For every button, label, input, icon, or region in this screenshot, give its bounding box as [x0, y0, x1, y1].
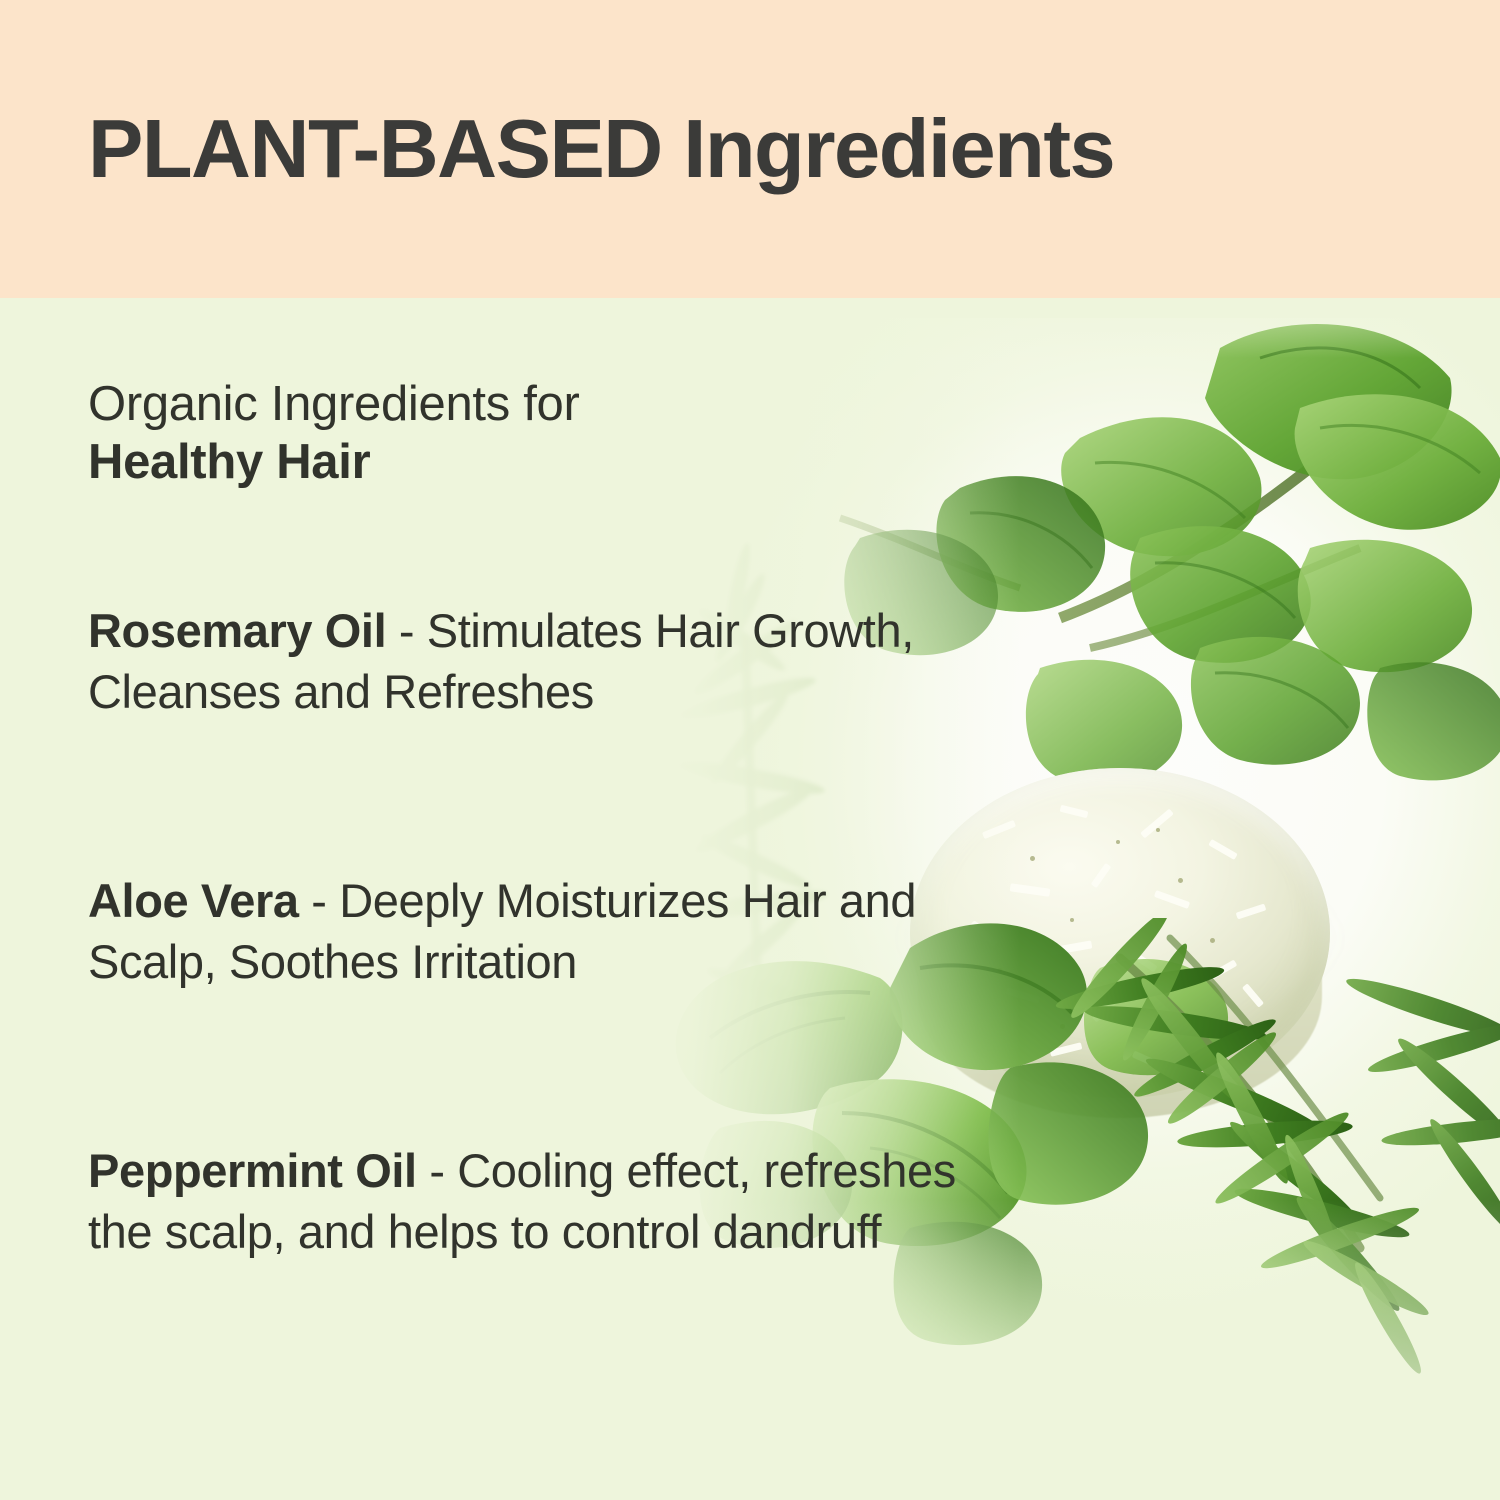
- intro-line-1: Organic Ingredients for: [88, 376, 580, 434]
- intro-heading: Organic Ingredients for Healthy Hair: [88, 376, 580, 492]
- plant-based-ingredients-infographic: PLANT-BASED Ingredients Organic Ingredie…: [0, 0, 1500, 1500]
- ingredient-name: Aloe Vera: [88, 874, 299, 927]
- ingredient-name: Peppermint Oil: [88, 1144, 417, 1197]
- ingredient-item-peppermint-oil: Peppermint Oil - Cooling effect, refresh…: [88, 1140, 968, 1262]
- ingredient-item-rosemary-oil: Rosemary Oil - Stimulates Hair Growth, C…: [88, 600, 968, 722]
- page-title: PLANT-BASED Ingredients: [88, 101, 1114, 197]
- ingredient-name: Rosemary Oil: [88, 604, 386, 657]
- ingredient-item-aloe-vera: Aloe Vera - Deeply Moisturizes Hair and …: [88, 870, 968, 992]
- header-band: PLANT-BASED Ingredients: [0, 0, 1500, 298]
- intro-line-2: Healthy Hair: [88, 434, 580, 492]
- ingredients-content: Organic Ingredients for Healthy Hair Ros…: [88, 298, 968, 1500]
